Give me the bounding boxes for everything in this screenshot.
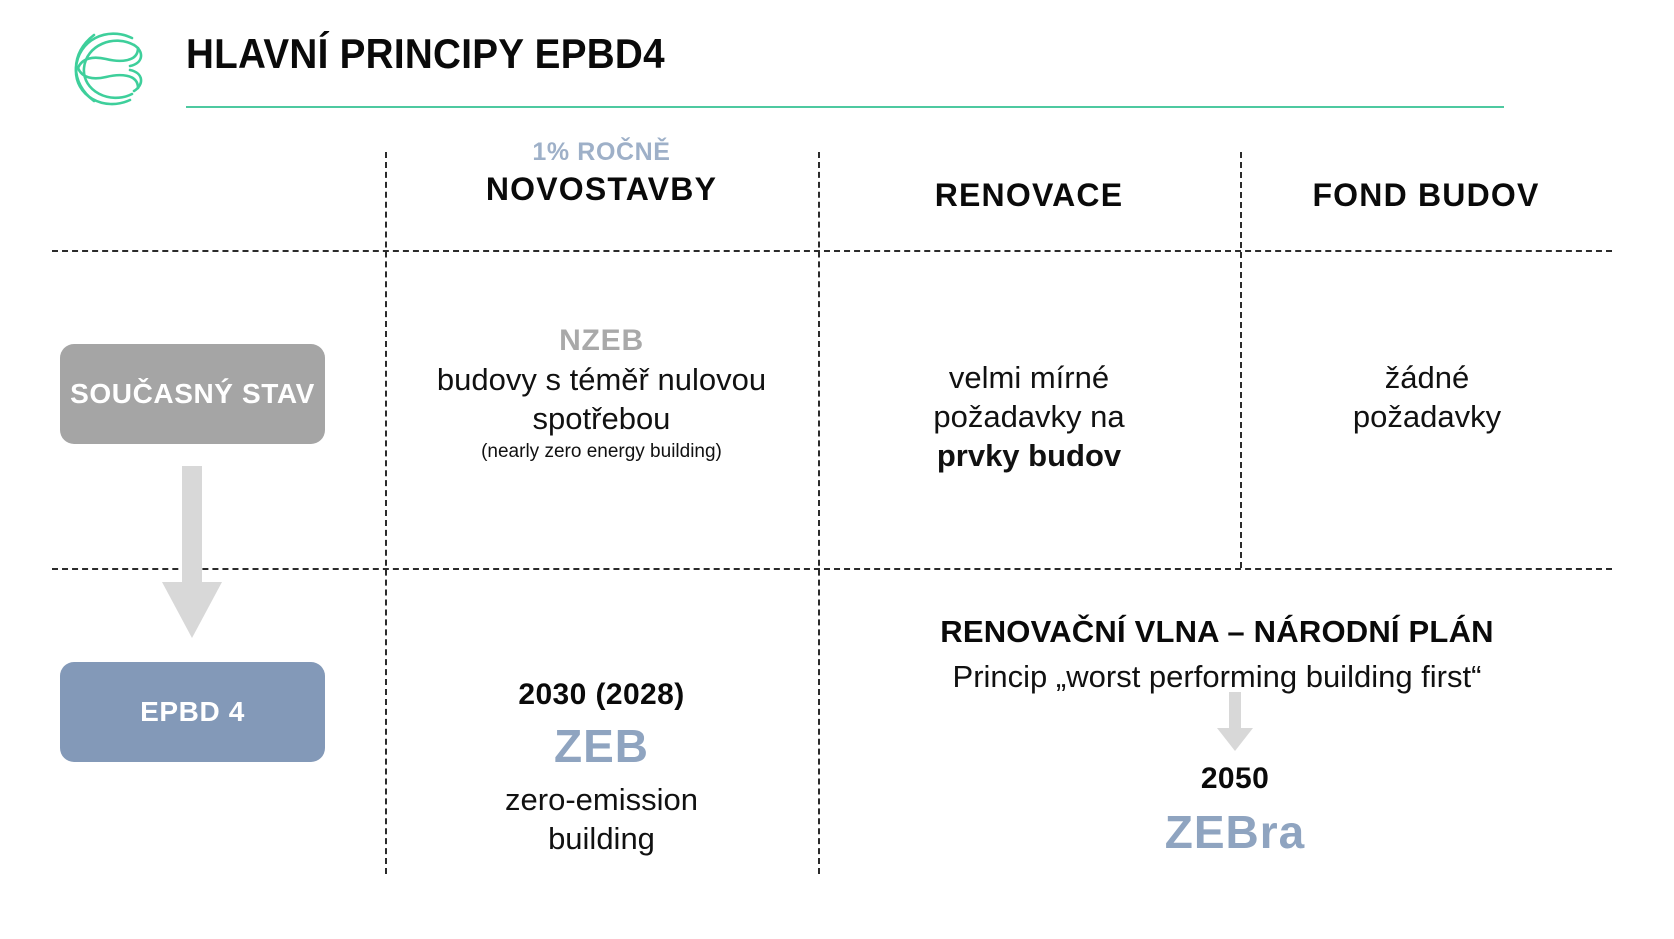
column-header-novostavby: 1% ROČNĚ NOVOSTAVBY (385, 138, 818, 208)
page-title: HLAVNÍ PRINCIPY EPBD4 (186, 30, 665, 78)
cell-epbd-renovacni-vlna: RENOVAČNÍ VLNA – NÁRODNÍ PLÁN Princip „w… (822, 612, 1612, 696)
down-arrow-to-2050-icon (1215, 692, 1255, 752)
column-header-fond-budov: FOND BUDOV (1240, 177, 1612, 214)
cell-2050-year: 2050 (1000, 760, 1470, 798)
grid-hline-top (52, 250, 1612, 252)
down-arrow-current-to-epbd-icon (160, 466, 224, 640)
cell-footnote-nzeb: (nearly zero energy building) (390, 440, 813, 464)
renovation-wave-subtitle: Princip „worst performing building first… (822, 657, 1612, 696)
grid-vline-3 (1240, 152, 1242, 568)
title-underline-rule (186, 106, 1504, 108)
column-eyebrow-novostavby: 1% ROČNĚ (385, 138, 818, 167)
slide-canvas: HLAVNÍ PRINCIPY EPBD4 1% ROČNĚ NOVOSTAVB… (0, 0, 1674, 939)
cell-epbd-2050: 2050 ZEBra (1000, 760, 1470, 862)
cell-fond-line-1: žádné (1244, 358, 1610, 397)
column-label-novostavby: NOVOSTAVBY (385, 171, 818, 208)
cell-zeb-line-1: zero-emission (390, 780, 813, 819)
cell-renovace-line-1: velmi mírné (822, 358, 1236, 397)
cell-renovace-line-2: požadavky na (822, 397, 1236, 436)
cell-zeb-line-2: building (390, 819, 813, 858)
cell-current-fond-budov: žádné požadavky (1244, 358, 1610, 436)
row-label-epbd-4: EPBD 4 (60, 662, 325, 762)
renovation-wave-banner: RENOVAČNÍ VLNA – NÁRODNÍ PLÁN (822, 612, 1612, 651)
cell-current-novostavby: NZEB budovy s téměř nulovou spotřebou (n… (390, 322, 813, 464)
column-label-fond-budov: FOND BUDOV (1240, 177, 1612, 214)
row-label-epbd-4-text: EPBD 4 (140, 695, 245, 729)
cdv-circular-c-logo-icon (60, 18, 160, 118)
grid-vline-2 (818, 152, 820, 874)
cell-renovace-line-3: prvky budov (822, 436, 1236, 475)
row-label-soucasny-stav: SOUČASNÝ STAV (60, 344, 325, 444)
cell-epbd-year: 2030 (2028) (390, 676, 813, 714)
grid-vline-1 (385, 152, 387, 874)
cell-current-renovace: velmi mírné požadavky na prvky budov (822, 358, 1236, 475)
cell-fond-line-2: požadavky (1244, 397, 1610, 436)
cell-tag-zeb: ZEB (390, 718, 813, 776)
cell-epbd-novostavby: 2030 (2028) ZEB zero-emission building (390, 676, 813, 858)
cell-tag-zebra: ZEBra (1000, 804, 1470, 862)
cell-tag-nzeb: NZEB (390, 322, 813, 360)
column-label-renovace: RENOVACE (818, 177, 1240, 214)
cell-body-nzeb: budovy s téměř nulovou spotřebou (390, 360, 813, 438)
row-label-soucasny-stav-text: SOUČASNÝ STAV (70, 377, 315, 411)
grid-hline-middle (52, 568, 1612, 570)
column-header-renovace: RENOVACE (818, 177, 1240, 214)
